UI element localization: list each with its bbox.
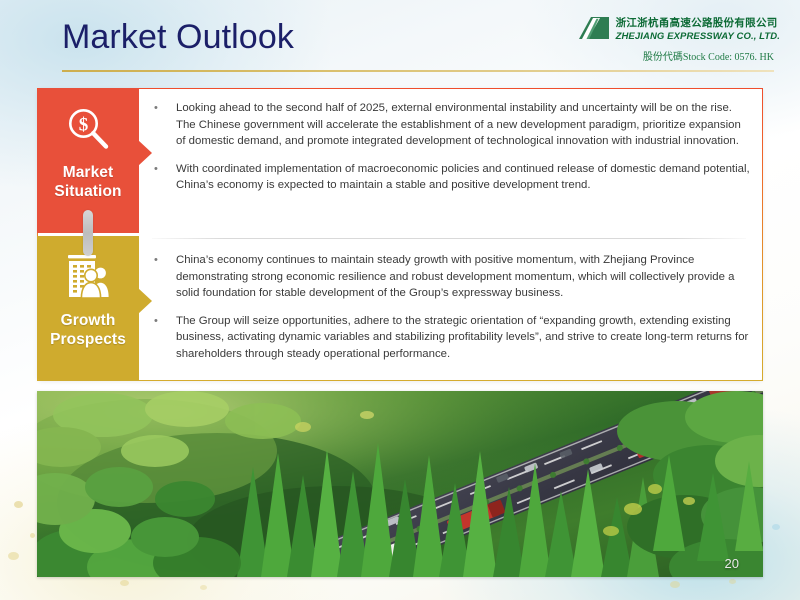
splatter-dot: [772, 524, 780, 530]
bullet-item: • Looking ahead to the second half of 20…: [150, 100, 750, 150]
splatter-dot: [30, 533, 35, 538]
bullet-text: With coordinated implementation of macro…: [176, 161, 750, 194]
group-divider: [152, 238, 746, 239]
splatter-dot: [670, 581, 680, 588]
splatter-dot: [8, 552, 19, 560]
bullet-group-growth-prospects: • China’s economy continues to maintain …: [150, 252, 750, 362]
label-column: $ Market Situation: [37, 88, 139, 381]
logo-stock-code-cn: 股份代碼: [643, 52, 683, 63]
bullet-marker-icon: •: [150, 161, 176, 178]
bullet-text: The Group will seize opportunities, adhe…: [176, 313, 750, 363]
block-market-situation-label-line1: Market: [63, 164, 114, 181]
magnifier-dollar-icon: $: [63, 100, 113, 158]
building-people-icon: [60, 248, 116, 306]
block-growth-prospects-label-line2: Prospects: [50, 331, 126, 348]
connector-pin: [83, 210, 93, 256]
expressway-road-logo-icon: [577, 15, 611, 41]
block-market-situation-label-line2: Situation: [54, 183, 121, 200]
logo-company-name-en: ZHEJIANG EXPRESSWAY CO., LTD.: [616, 32, 780, 42]
logo-stock-code-en: Stock Code: 0576. HK: [683, 52, 774, 63]
bullet-text: China’s economy continues to maintain st…: [176, 252, 750, 302]
splatter-dot: [729, 579, 736, 584]
logo-row: 浙江浙杭甬高速公路股份有限公司 ZHEJIANG EXPRESSWAY CO.,…: [540, 14, 780, 42]
splatter-dot: [14, 501, 23, 508]
logo-company-name-cn: 浙江浙杭甬高速公路股份有限公司: [616, 17, 778, 29]
title-underline-rule: [62, 70, 774, 72]
splatter-dot: [200, 585, 207, 590]
bullet-text-column: • Looking ahead to the second half of 20…: [150, 92, 750, 377]
bullet-item: • With coordinated implementation of mac…: [150, 161, 750, 194]
splatter-dot: [120, 580, 129, 586]
block-growth-prospects[interactable]: Growth Prospects: [37, 236, 139, 381]
bullet-group-market-situation: • Looking ahead to the second half of 20…: [150, 100, 750, 194]
page-number: 20: [725, 556, 739, 571]
page-title: Market Outlook: [62, 18, 294, 57]
block-market-situation-label: Market Situation: [54, 164, 121, 202]
block-growth-prospects-label-line1: Growth: [61, 312, 116, 329]
bullet-marker-icon: •: [150, 252, 176, 269]
logo-names: 浙江浙杭甬高速公路股份有限公司 ZHEJIANG EXPRESSWAY CO.,…: [616, 14, 780, 42]
bullet-marker-icon: •: [150, 100, 176, 117]
slide-canvas: Market Outlook 浙江浙杭甬高速公路股份有限公司 ZHEJIANG …: [0, 0, 800, 600]
block-growth-prospects-label: Growth Prospects: [50, 312, 126, 350]
svg-text:$: $: [79, 115, 89, 136]
bullet-text: Looking ahead to the second half of 2025…: [176, 100, 750, 150]
bullet-marker-icon: •: [150, 313, 176, 330]
aerial-expressway-forest-photo: 20: [37, 391, 763, 577]
logo-stock-code: 股份代碼Stock Code: 0576. HK: [540, 48, 780, 63]
bullet-item: • China’s economy continues to maintain …: [150, 252, 750, 302]
company-logo-block: 浙江浙杭甬高速公路股份有限公司 ZHEJIANG EXPRESSWAY CO.,…: [540, 14, 780, 63]
bullet-item: • The Group will seize opportunities, ad…: [150, 313, 750, 363]
